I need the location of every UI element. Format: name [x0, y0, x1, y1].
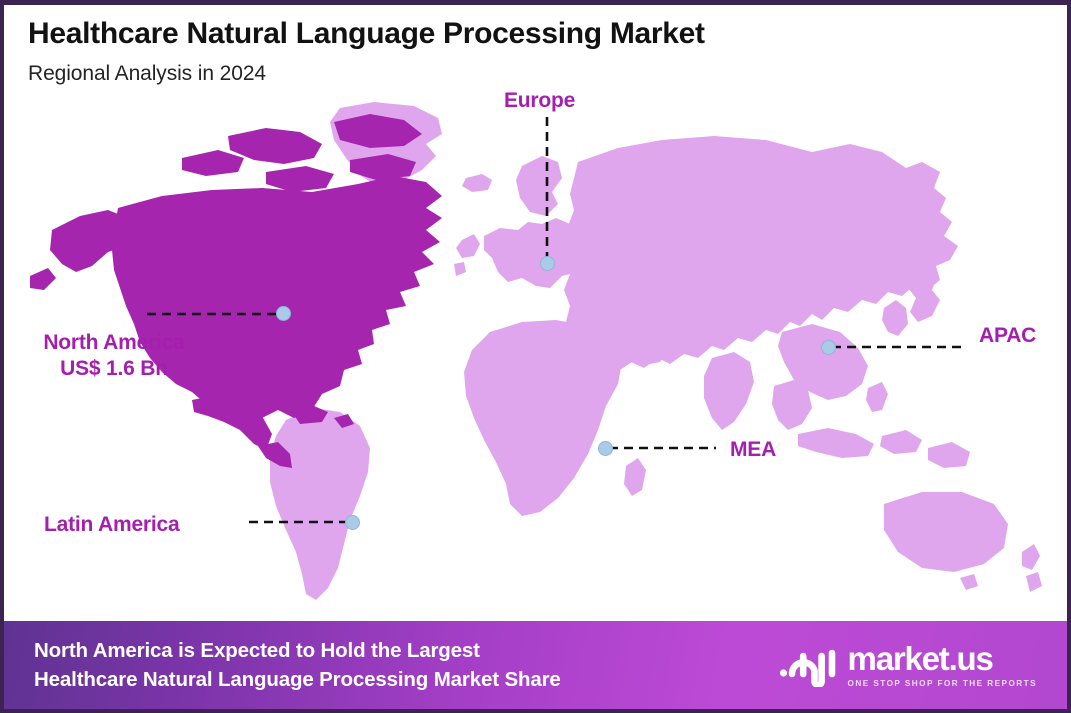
marker-dot-latin-america[interactable]: [345, 515, 360, 530]
banner-message: North America is Expected to Hold the La…: [34, 636, 561, 694]
region-value-north-america: US$ 1.6 Bn: [18, 356, 210, 382]
logo-text-block: market.us ONE STOP SHOP FOR THE REPORTS: [848, 642, 1037, 688]
page-subtitle: Regional Analysis in 2024: [28, 62, 1067, 86]
market-us-logo[interactable]: market.us ONE STOP SHOP FOR THE REPORTS: [779, 642, 1051, 688]
marker-dot-mea[interactable]: [598, 441, 613, 456]
region-label-apac: APAC: [979, 323, 1036, 349]
region-name-europe: Europe: [504, 89, 575, 112]
logo-tagline: ONE STOP SHOP FOR THE REPORTS: [848, 679, 1037, 688]
infographic-root: Healthcare Natural Language Processing M…: [0, 0, 1071, 713]
region-label-north-america: North America US$ 1.6 Bn: [18, 330, 210, 383]
region-name-apac: APAC: [979, 324, 1036, 347]
region-label-latin-america: Latin America: [44, 512, 180, 538]
market-us-logo-icon: [779, 643, 837, 687]
marker-dot-apac[interactable]: [821, 340, 836, 355]
logo-wordmark: market.us: [848, 642, 1037, 675]
marker-dot-europe[interactable]: [540, 256, 555, 271]
region-label-mea: MEA: [730, 437, 776, 463]
banner-line-2: Healthcare Natural Language Processing M…: [34, 665, 561, 694]
region-name-north-america: North America: [43, 331, 184, 354]
region-label-europe: Europe: [504, 88, 575, 114]
footer-banner: North America is Expected to Hold the La…: [4, 621, 1067, 709]
region-name-latin-america: Latin America: [44, 513, 180, 536]
world-map-container: North America US$ 1.6 Bn Latin America E…: [4, 5, 1067, 630]
banner-line-1: North America is Expected to Hold the La…: [34, 636, 561, 665]
header: Healthcare Natural Language Processing M…: [4, 5, 1067, 86]
region-name-mea: MEA: [730, 438, 776, 461]
page-title: Healthcare Natural Language Processing M…: [28, 17, 1067, 51]
marker-dot-north-america[interactable]: [276, 306, 291, 321]
